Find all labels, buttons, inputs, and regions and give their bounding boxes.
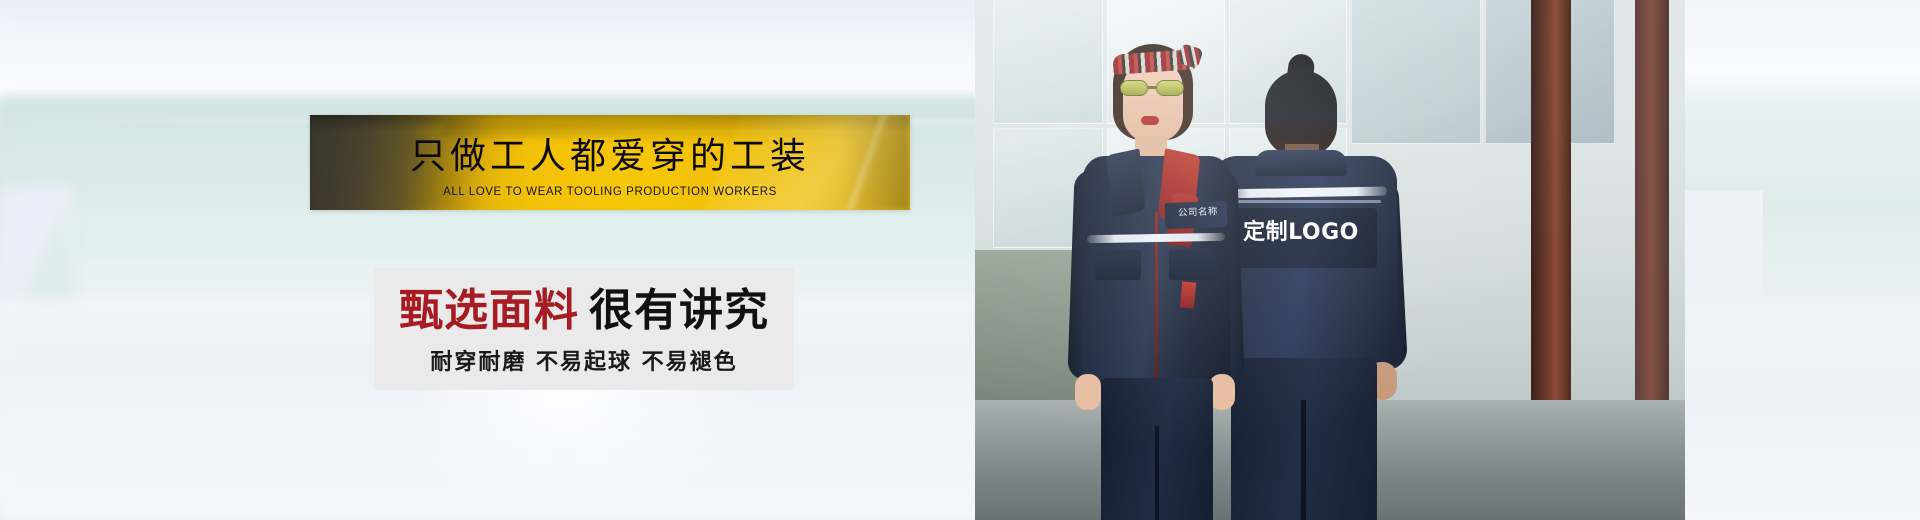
- sunglasses-bridge: [1148, 86, 1156, 89]
- background-wedge: [22, 190, 72, 302]
- sunglasses-lens-right: [1156, 80, 1184, 96]
- female-trousers-seam: [1155, 426, 1159, 520]
- female-lips: [1141, 116, 1159, 125]
- female-pocket-left: [1095, 250, 1141, 280]
- model-female: 公司名称: [1073, 44, 1241, 520]
- male-collar: [1255, 150, 1347, 176]
- fabric-headline-black: 很有讲究: [589, 285, 769, 336]
- gold-headline-plate: 只做工人都爱穿的工装 ALL LOVE TO WEAR TOOLING PROD…: [310, 115, 910, 210]
- female-hand-left: [1075, 374, 1101, 410]
- fabric-features: 耐穿耐磨 不易起球 不易褪色: [374, 348, 794, 378]
- facade-column: [1531, 0, 1571, 430]
- female-red-tab: [1180, 281, 1197, 308]
- female-collar-left: [1106, 148, 1146, 217]
- custom-logo-print: 定制LOGO: [1225, 218, 1377, 248]
- main-headline: 只做工人都爱穿的工装: [310, 135, 910, 179]
- male-trousers-seam: [1301, 400, 1306, 520]
- main-subheadline-english: ALL LOVE TO WEAR TOOLING PRODUCTION WORK…: [310, 185, 910, 199]
- product-photo: 定制LOGO 公司名称: [975, 0, 1685, 520]
- company-name-print: 公司名称: [1169, 205, 1227, 221]
- female-pocket-right: [1169, 250, 1215, 280]
- fabric-headline: 甄选面料很有讲究: [374, 283, 794, 339]
- promo-banner: 只做工人都爱穿的工装 ALL LOVE TO WEAR TOOLING PROD…: [0, 0, 1920, 520]
- background-right-notch: [1685, 190, 1763, 302]
- fabric-headline-red: 甄选面料: [399, 285, 579, 336]
- sunglasses-lens-left: [1120, 80, 1148, 96]
- sunglasses-icon: [1120, 80, 1186, 96]
- facade-column: [1635, 0, 1669, 420]
- male-reflective-stripe-thin: [1225, 200, 1381, 203]
